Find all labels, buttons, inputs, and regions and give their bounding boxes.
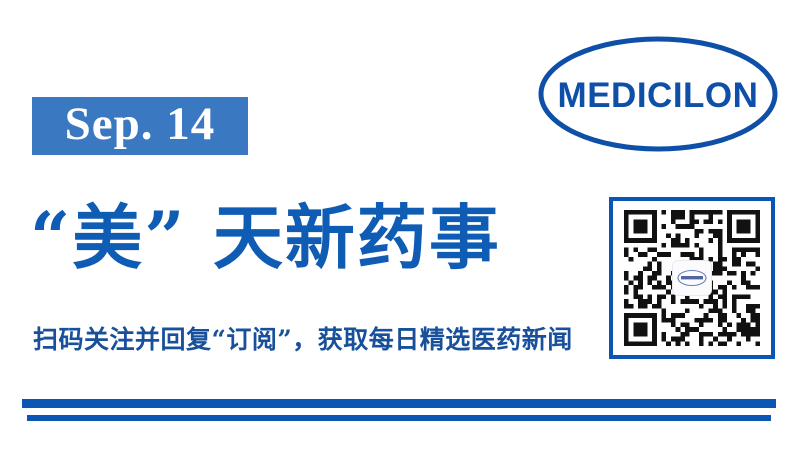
qr-code-icon xyxy=(622,210,762,346)
date-badge-label: Sep. 14 xyxy=(65,101,216,148)
subtitle-text: 扫码关注并回复“订阅”，获取每日精选医药新闻 xyxy=(33,322,593,358)
qr-code-panel[interactable] xyxy=(609,197,775,359)
footer-rule-thin xyxy=(27,415,771,421)
poster-canvas: Sep. 14 MEDICILON “美” 天新药事 扫码关注并回复“订阅”，获… xyxy=(0,0,800,468)
medicilon-logo-icon: MEDICILON xyxy=(537,35,779,153)
brand-wordmark: MEDICILON xyxy=(558,76,759,115)
date-badge: Sep. 14 xyxy=(32,97,248,155)
page-title: “美” 天新药事 xyxy=(30,186,610,290)
footer-rule-thick xyxy=(22,399,776,408)
medicilon-badge-icon xyxy=(673,261,711,295)
